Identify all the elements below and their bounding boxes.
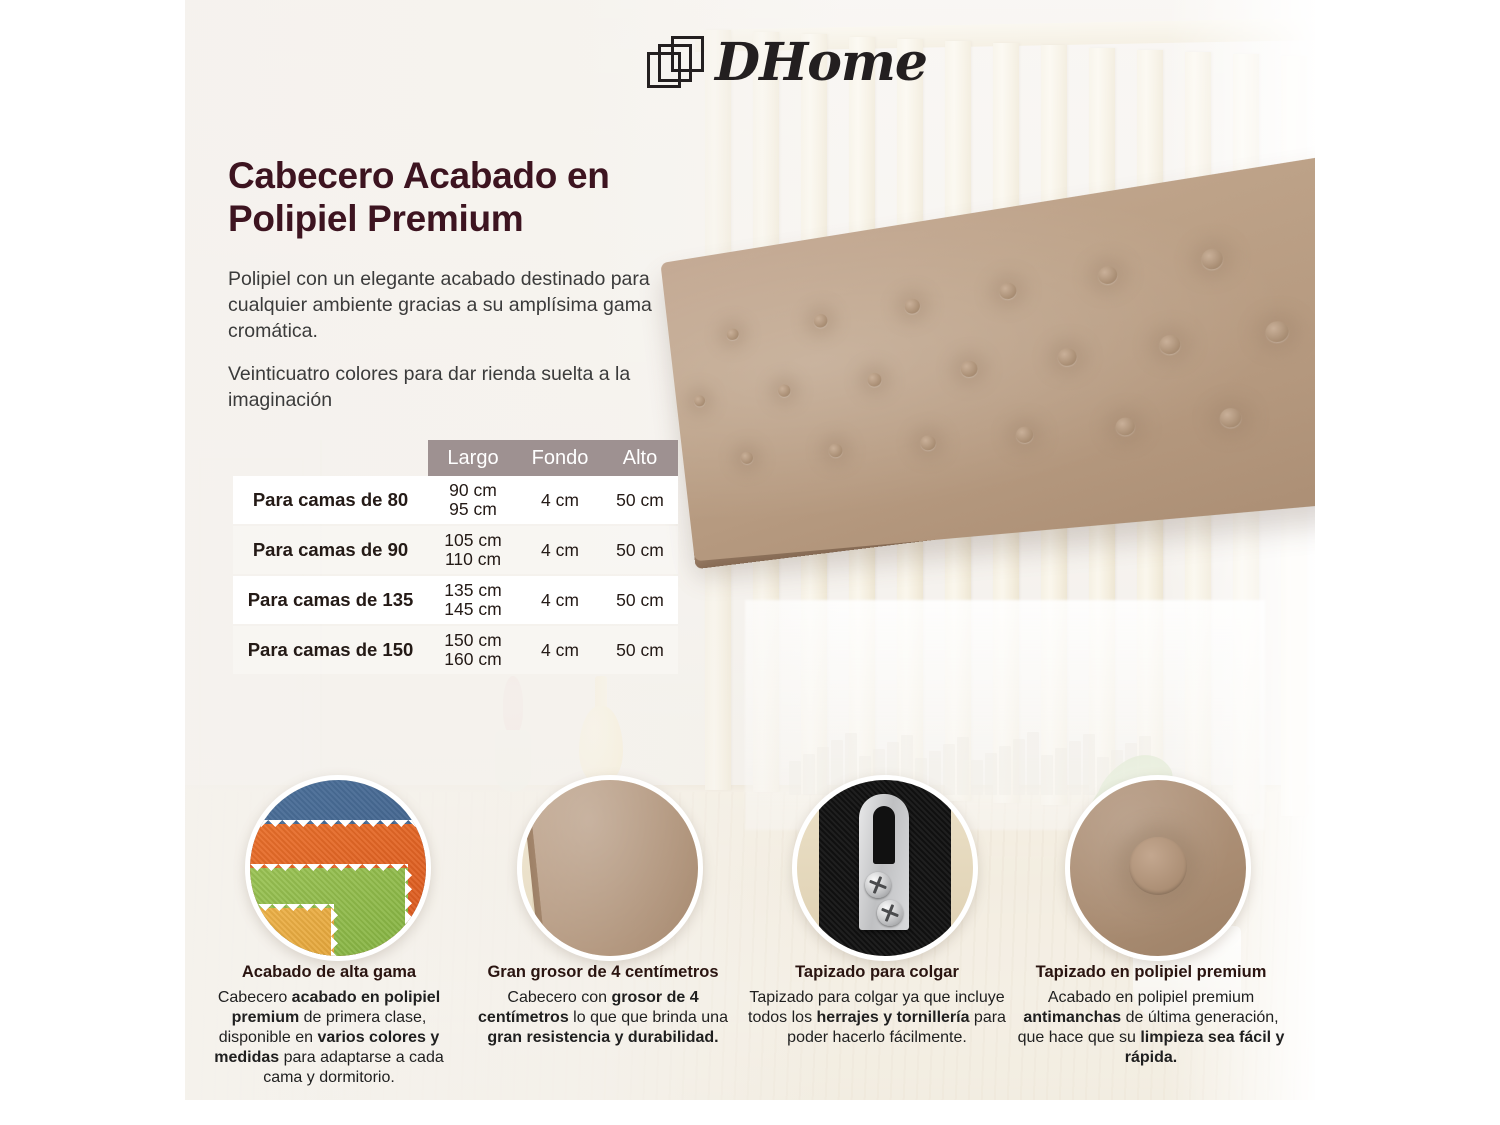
table-row: Para camas de 135135 cm145 cm4 cm50 cm: [233, 576, 678, 624]
feature-title-2: Gran grosor de 4 centímetros: [469, 963, 737, 983]
column-header-largo: Largo: [428, 447, 518, 470]
feature-text-4: Acabado en polipiel premium antimanchas …: [1017, 988, 1285, 1069]
background-book: [1013, 739, 1025, 795]
headboard-tuft-button: [1015, 426, 1034, 444]
feature-icon-wall-bracket: [792, 775, 978, 961]
background-flower-vase: [485, 672, 539, 792]
phillips-screw-icon: [865, 872, 891, 898]
column-header-alto: Alto: [602, 447, 678, 470]
headboard-tuft-button: [777, 384, 791, 398]
swatch-gold: [245, 908, 334, 961]
page-title: Cabecero Acabado en Polipiel Premium: [228, 155, 728, 241]
background-book: [1027, 732, 1039, 795]
lamp-body: [579, 706, 623, 784]
cell-alto: 50 cm: [602, 590, 678, 611]
intro-paragraph-1: Polipiel con un elegante acabado destina…: [228, 267, 728, 345]
feature-title-4: Tapizado en polipiel premium: [1017, 963, 1285, 983]
bracket-backdrop-left: [797, 780, 819, 956]
cell-alto: 50 cm: [602, 490, 678, 511]
cell-largo: 135 cm145 cm: [428, 581, 518, 618]
feature-caption-2: Gran grosor de 4 centímetros Cabecero co…: [469, 963, 737, 1048]
metal-hanging-bracket: [859, 794, 909, 930]
cell-alto: 50 cm: [602, 640, 678, 661]
headboard-tuft-button: [828, 443, 843, 458]
feature-text-3: Tapizado para colgar ya que incluye todo…: [743, 988, 1011, 1048]
cell-fondo: 4 cm: [518, 590, 602, 611]
background-book: [985, 753, 997, 795]
background-book: [1055, 748, 1067, 795]
background-book: [999, 746, 1011, 795]
cell-largo: 90 cm95 cm: [428, 481, 518, 518]
row-label: Para camas de 150: [233, 639, 428, 661]
headboard-tuft-button: [960, 360, 978, 377]
feature-text-2: Cabecero con grosor de 4 centímetros lo …: [469, 988, 737, 1048]
headline-block: Cabecero Acabado en Polipiel Premium Pol…: [228, 155, 728, 413]
cell-fondo: 4 cm: [518, 540, 602, 561]
headboard-tuft-button: [1097, 265, 1118, 285]
headboard-tuft-button: [867, 372, 883, 388]
background-table-lamp: [575, 672, 627, 792]
feature-icon-tufted-button: [1065, 775, 1251, 961]
headboard-tuft-button: [726, 328, 739, 341]
cell-largo: 150 cm160 cm: [428, 631, 518, 668]
flower-cluster: [503, 676, 523, 734]
brand-name: DHome: [715, 37, 927, 89]
background-book: [1041, 755, 1053, 795]
headboard-tuft-button: [694, 395, 706, 408]
brand-logo: DHome: [647, 36, 927, 90]
headboard-tuft-button: [920, 435, 937, 451]
feature-caption-1: Acabado de alta gama Cabecero acabado en…: [195, 963, 463, 1089]
headboard-tuft-button: [740, 451, 753, 464]
feature-caption-3: Tapizado para colgar Tapizado para colga…: [743, 963, 1011, 1048]
headboard-tuft-button: [1219, 407, 1243, 429]
headboard-tuft-button: [999, 282, 1018, 301]
feature-caption-4: Tapizado en polipiel premium Acabado en …: [1017, 963, 1285, 1068]
bracket-keyhole-slot: [873, 806, 895, 864]
bracket-backdrop-right: [951, 780, 973, 956]
feature-title-3: Tapizado para colgar: [743, 963, 1011, 983]
headboard-tuft-button: [1158, 334, 1180, 355]
table-row: Para camas de 150150 cm160 cm4 cm50 cm: [233, 626, 678, 674]
phillips-screw-icon: [877, 900, 903, 926]
table-header-row: Largo Fondo Alto: [428, 440, 678, 476]
column-header-fondo: Fondo: [518, 447, 602, 470]
table-row: Para camas de 90105 cm110 cm4 cm50 cm: [233, 526, 678, 574]
cell-fondo: 4 cm: [518, 640, 602, 661]
overlapping-squares-icon: [647, 36, 701, 90]
headboard-tuft-button: [813, 313, 828, 328]
headboard-closeup: [526, 775, 703, 961]
infographic-page: DHome Cabecero Acabado en Polipiel Premi…: [0, 0, 1500, 1125]
row-label: Para camas de 90: [233, 539, 428, 561]
product-headboard: [660, 190, 1315, 691]
feature-text-1: Cabecero acabado en polipiel premium de …: [195, 988, 463, 1089]
feature-icon-fabric-swatches: [245, 775, 431, 961]
row-label: Para camas de 80: [233, 489, 428, 511]
content-panel: DHome Cabecero Acabado en Polipiel Premi…: [185, 0, 1315, 1100]
row-label: Para camas de 135: [233, 589, 428, 611]
cell-largo: 105 cm110 cm: [428, 531, 518, 568]
intro-paragraph-2: Veinticuatro colores para dar rienda sue…: [228, 362, 728, 414]
cell-alto: 50 cm: [602, 540, 678, 561]
headboard-tuft-button: [904, 298, 921, 315]
tufted-button: [1129, 837, 1187, 895]
feature-icon-thickness: [517, 775, 703, 961]
headboard-tuft-button: [1057, 347, 1077, 366]
feature-title-1: Acabado de alta gama: [195, 963, 463, 983]
headboard-tuft-button: [1115, 416, 1136, 436]
headboard-tuft-button: [1265, 320, 1290, 343]
page-title-line1: Cabecero Acabado en: [228, 155, 610, 196]
cell-fondo: 4 cm: [518, 490, 602, 511]
headboard-tuft-button: [1201, 248, 1225, 270]
table-row: Para camas de 8090 cm95 cm4 cm50 cm: [233, 476, 678, 524]
page-title-line2: Polipiel Premium: [228, 198, 523, 239]
